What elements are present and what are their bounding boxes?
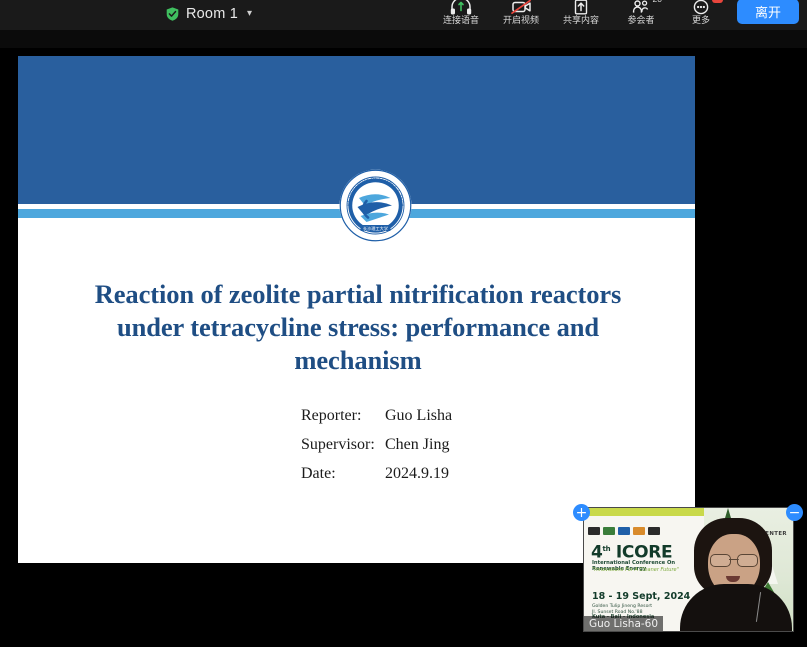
sponsor-logo-2 <box>603 527 615 535</box>
poster-venue-line1: Golden Tulip Jineng Resort <box>592 604 652 609</box>
shared-slide[interactable]: CHANGSHA UNIVERSITY OF SCIENCE & TECHNOL… <box>18 56 695 563</box>
glasses-lens-left <box>710 554 731 567</box>
headset-icon <box>450 0 472 15</box>
toolbar-button-more[interactable]: 更多 <box>671 0 731 32</box>
toolbar-label-share: 共享内容 <box>563 16 599 26</box>
shield-check-icon <box>166 7 179 21</box>
toolbar-label-more: 更多 <box>692 16 710 26</box>
share-screen-icon <box>570 0 592 15</box>
sponsor-logo-1 <box>588 527 600 535</box>
slide-title: Reaction of zeolite partial nitrificatio… <box>58 278 658 377</box>
video-off-icon <box>510 0 532 15</box>
toolbar-button-share[interactable]: 共享内容 <box>551 0 611 32</box>
participant-name-label: Guo Lisha-60 <box>584 616 663 631</box>
meta-value-supervisor: Chen Jing <box>385 436 449 454</box>
toolbar-button-participants[interactable]: 20 参会者 <box>611 0 671 32</box>
poster-dates: 18 - 19 Sept, 2024 <box>592 592 690 602</box>
changsha-university-logo: CHANGSHA UNIVERSITY OF SCIENCE & TECHNOL… <box>338 168 413 243</box>
poster-event-title: 4th ICORE <box>591 541 672 562</box>
meta-key-date: Date: <box>301 465 385 483</box>
toolbar-button-audio[interactable]: 连接语音 <box>431 0 491 32</box>
toolbar-label-participants: 参会者 <box>627 16 654 26</box>
meta-value-date: 2024.9.19 <box>385 465 449 483</box>
room-selector[interactable]: Room 1 ▾ <box>160 0 258 29</box>
meeting-toolbar: Room 1 ▾ 连接语音 <box>0 0 807 30</box>
sponsor-logo-5 <box>648 527 660 535</box>
presenter-video-tile[interactable]: PRESENTER CHINA 4th ICORE International … <box>583 507 794 632</box>
more-notification-dot <box>712 0 723 3</box>
sponsor-logo-3 <box>618 527 630 535</box>
avatar-body <box>680 584 792 631</box>
meta-value-reporter: Guo Lisha <box>385 407 452 425</box>
poster-edition-suffix: th <box>603 545 611 553</box>
meta-row-reporter: Reporter: Guo Lisha <box>301 407 452 425</box>
add-video-tile-button[interactable]: + <box>573 504 590 521</box>
chevron-down-icon: ▾ <box>247 9 252 19</box>
glasses-lens-right <box>737 554 758 567</box>
toolbar-underbar <box>0 30 807 48</box>
presenter-avatar <box>680 518 792 631</box>
remove-video-tile-button[interactable]: − <box>786 504 803 521</box>
more-dots-icon <box>690 0 712 15</box>
avatar-glasses <box>710 554 758 566</box>
meta-row-supervisor: Supervisor: Chen Jing <box>301 436 452 454</box>
participants-icon <box>630 0 652 15</box>
toolbar-button-video[interactable]: 开启视频 <box>491 0 551 32</box>
toolbar-label-video: 开启视频 <box>503 16 539 26</box>
room-label: Room 1 <box>186 6 238 22</box>
meta-key-supervisor: Supervisor: <box>301 436 385 454</box>
svg-text:长沙理工大学: 长沙理工大学 <box>363 225 388 232</box>
slide-meta-block: Reporter: Guo Lisha Supervisor: Chen Jin… <box>301 407 452 494</box>
sponsor-logo-4 <box>633 527 645 535</box>
toolbar-label-audio: 连接语音 <box>443 16 479 26</box>
meta-row-date: Date: 2024.9.19 <box>301 465 452 483</box>
poster-top-accent <box>584 508 704 516</box>
leave-meeting-button[interactable]: 离开 <box>737 0 799 24</box>
meta-key-reporter: Reporter: <box>301 407 385 425</box>
toolbar-actions: 连接语音 开启视频 共享内容 <box>431 0 799 31</box>
poster-sponsor-logos <box>588 527 660 535</box>
participant-count-badge: 20 <box>653 0 662 4</box>
